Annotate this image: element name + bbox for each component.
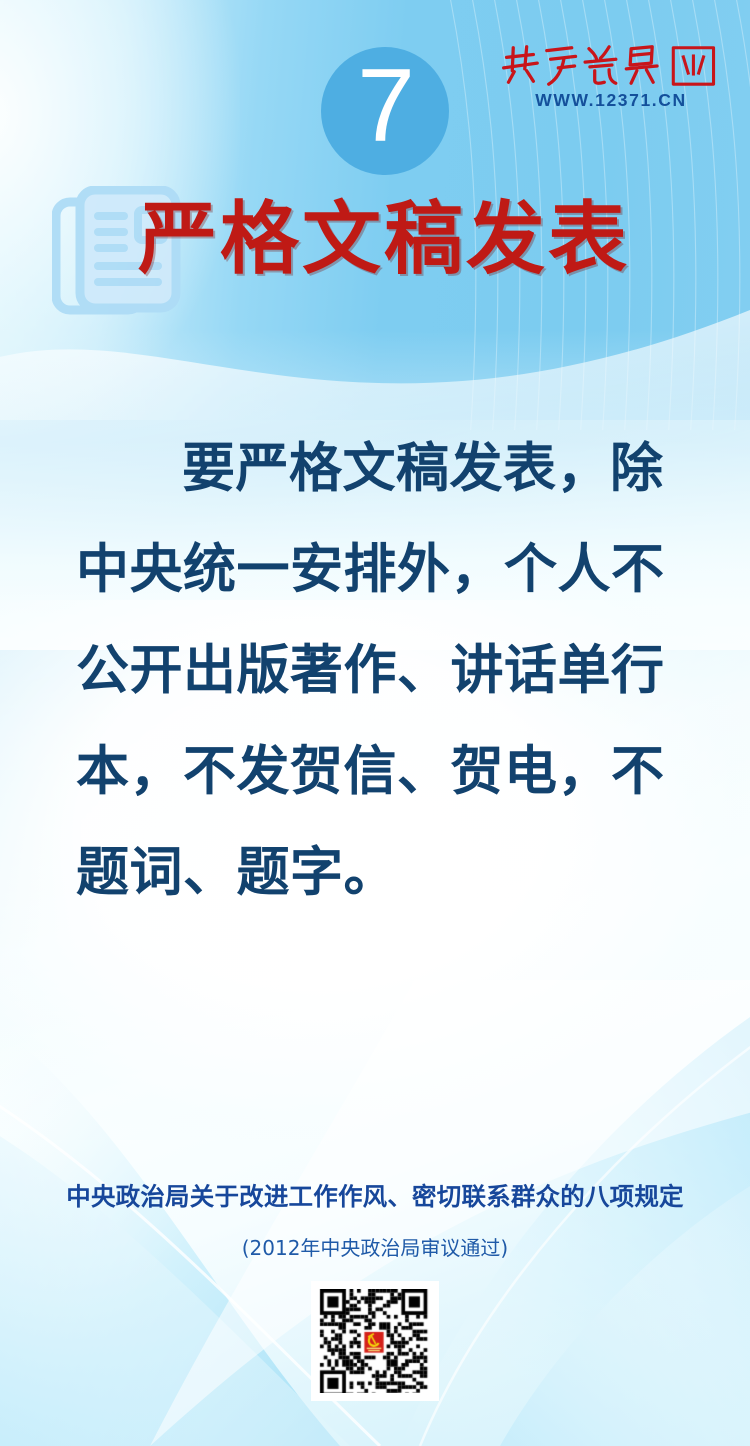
page-title: 严格文稿发表 <box>138 200 630 279</box>
brand-wordmark-icon <box>496 42 726 88</box>
title-block: 严格文稿发表 <box>0 186 750 326</box>
regulation-title: 中央政治局关于改进工作作风、密切联系群众的八项规定 <box>0 1178 750 1213</box>
adoption-note: (2012年中央政治局审议通过) <box>0 1232 750 1261</box>
brand-logo[interactable]: WWW.12371.CN <box>496 42 726 111</box>
poster-canvas: 7 <box>0 0 750 1446</box>
qr-code[interactable] <box>311 1281 439 1401</box>
body-paragraph: 要严格文稿发表，除中央统一安排外，个人不公开出版著作、讲话单行本，不发贺信、贺电… <box>76 418 676 923</box>
section-number: 7 <box>357 54 413 158</box>
qr-code-canvas <box>319 1289 431 1393</box>
brand-url: WWW.12371.CN <box>496 90 726 111</box>
section-number-badge: 7 <box>321 47 449 175</box>
